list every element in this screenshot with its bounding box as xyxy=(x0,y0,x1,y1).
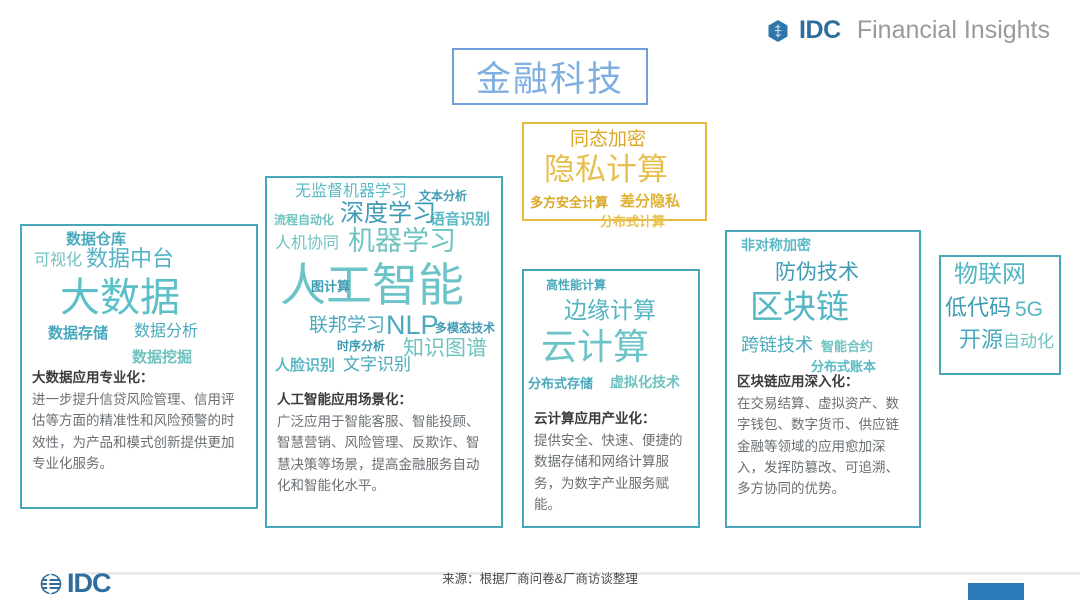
wordcloud-term: 多模态技术 xyxy=(435,322,495,334)
wordcloud-term: 数据挖掘 xyxy=(132,350,192,365)
page-title: 金融科技 xyxy=(452,48,648,105)
wordcloud-term: 智能合约 xyxy=(821,340,873,353)
wordcloud-term: 低代码 xyxy=(945,297,1011,319)
card-iot[interactable]: 物联网低代码5G开源自动化 xyxy=(939,255,1061,375)
idc-hex-badge-icon xyxy=(766,19,790,43)
wordcloud-term: 数据分析 xyxy=(134,324,198,340)
wordcloud-term: 差分隐私 xyxy=(620,194,680,209)
wordcloud-term: 图计算 xyxy=(311,280,350,293)
wordcloud-term: 无监督机器学习 xyxy=(295,184,407,200)
card-blockchain[interactable]: 非对称加密防伪技术区块链跨链技术智能合约分布式账本 区块链应用深入化： 在交易结… xyxy=(725,230,921,528)
wordcloud-artificial-intelligence: 无监督机器学习文本分析流程自动化深度学习语音识别人机协同机器学习人工智能图计算联… xyxy=(267,178,501,383)
wordcloud-term: 人脸识别 xyxy=(275,358,335,373)
wordcloud-term: 物联网 xyxy=(954,263,1026,287)
card-description-blockchain: 区块链应用深入化： 在交易结算、虚拟资产、数字钱包、数字货币、供应链金融等领域的… xyxy=(727,372,919,500)
wordcloud-term: 文字识别 xyxy=(343,356,411,373)
wordcloud-term: 时序分析 xyxy=(337,340,385,352)
desc-heading: 人工智能应用场景化： xyxy=(277,390,491,411)
wordcloud-term: 人机协同 xyxy=(275,236,339,252)
desc-body: 进一步提升信贷风险管理、信用评估等方面的精准性和风险预警的时效性，为产品和模式创… xyxy=(32,389,246,474)
footer-accent-block xyxy=(968,583,1024,600)
wordcloud-blockchain: 非对称加密防伪技术区块链跨链技术智能合约分布式账本 xyxy=(727,232,919,382)
desc-body: 提供安全、快速、便捷的数据存储和网络计算服务，为数字产业服务赋能。 xyxy=(534,430,688,515)
wordcloud-term: 非对称加密 xyxy=(741,238,811,252)
wordcloud-term: 数据仓库 xyxy=(66,232,126,247)
wordcloud-term: 防伪技术 xyxy=(775,262,859,283)
wordcloud-term: 自动化 xyxy=(1003,333,1054,350)
wordcloud-term: 人工智能 xyxy=(280,262,464,308)
card-description-cloud-computing: 云计算应用产业化： 提供安全、快速、便捷的数据存储和网络计算服务，为数字产业服务… xyxy=(524,409,698,515)
card-artificial-intelligence[interactable]: 无监督机器学习文本分析流程自动化深度学习语音识别人机协同机器学习人工智能图计算联… xyxy=(265,176,503,528)
wordcloud-term: 同态加密 xyxy=(570,130,646,149)
wordcloud-cloud-computing: 高性能计算边缘计算云计算分布式存储虚拟化技术 xyxy=(524,271,698,401)
wordcloud-term: 流程自动化 xyxy=(274,214,334,226)
page-title-label: 金融科技 xyxy=(476,51,624,102)
footer-source-note: 来源：根据厂商问卷&厂商访谈整理 xyxy=(0,568,1080,587)
wordcloud-term: 联邦学习 xyxy=(309,316,385,335)
wordcloud-term: 分布式存储 xyxy=(528,377,593,390)
wordcloud-term: 机器学习 xyxy=(348,228,456,255)
card-description-artificial-intelligence: 人工智能应用场景化： 广泛应用于智能客服、智能投顾、智慧营销、风险管理、反欺诈、… xyxy=(267,390,501,496)
desc-heading: 区块链应用深入化： xyxy=(737,372,909,393)
wordcloud-term: 高性能计算 xyxy=(546,279,606,291)
wordcloud-term: 深度学习 xyxy=(340,202,436,226)
wordcloud-term: 跨链技术 xyxy=(741,336,813,354)
wordcloud-term: 数据存储 xyxy=(48,326,108,341)
card-description-big-data: 大数据应用专业化： 进一步提升信贷风险管理、信用评估等方面的精准性和风险预警的时… xyxy=(22,368,256,474)
wordcloud-term: 知识图谱 xyxy=(403,338,487,359)
card-cloud-computing[interactable]: 高性能计算边缘计算云计算分布式存储虚拟化技术 云计算应用产业化： 提供安全、快速… xyxy=(522,269,700,528)
desc-body: 在交易结算、虚拟资产、数字钱包、数字货币、供应链金融等领域的应用愈加深入，发挥防… xyxy=(737,393,909,500)
wordcloud-term: 大数据 xyxy=(60,278,180,318)
wordcloud-term: 云计算 xyxy=(541,329,649,365)
wordcloud-iot: 物联网低代码5G开源自动化 xyxy=(941,257,1059,377)
wordcloud-term: 区块链 xyxy=(750,290,849,323)
wordcloud-term: 边缘计算 xyxy=(564,299,656,322)
card-big-data[interactable]: 数据仓库可视化数据中台大数据数据存储数据分析数据挖掘 大数据应用专业化： 进一步… xyxy=(20,224,258,509)
wordcloud-term: 分布式计算 xyxy=(600,215,665,228)
wordcloud-term: 可视化 xyxy=(34,253,82,269)
wordcloud-term: 虚拟化技术 xyxy=(610,375,680,389)
header-brand-logo: IDC Financial Insights xyxy=(766,16,1050,45)
card-privacy-computing[interactable]: 同态加密隐私计算多方安全计算差分隐私分布式计算 xyxy=(522,122,707,221)
wordcloud-term: 5G xyxy=(1015,299,1043,320)
desc-body: 广泛应用于智能客服、智能投顾、智慧营销、风险管理、反欺诈、智慧决策等场景，提高金… xyxy=(277,411,491,496)
wordcloud-privacy-computing: 同态加密隐私计算多方安全计算差分隐私分布式计算 xyxy=(524,124,705,223)
wordcloud-term: 数据中台 xyxy=(86,248,174,270)
header-brand-suffix: Financial Insights xyxy=(857,16,1050,45)
wordcloud-term: 隐私计算 xyxy=(544,154,668,185)
wordcloud-term: 多方安全计算 xyxy=(530,196,608,209)
desc-heading: 大数据应用专业化： xyxy=(32,368,246,389)
wordcloud-big-data: 数据仓库可视化数据中台大数据数据存储数据分析数据挖掘 xyxy=(22,226,256,374)
desc-heading: 云计算应用产业化： xyxy=(534,409,688,430)
wordcloud-term: 语音识别 xyxy=(430,212,490,227)
wordcloud-term: 开源 xyxy=(959,329,1003,351)
wordcloud-term: NLP xyxy=(386,312,439,339)
header-brand-idc: IDC xyxy=(799,16,841,45)
